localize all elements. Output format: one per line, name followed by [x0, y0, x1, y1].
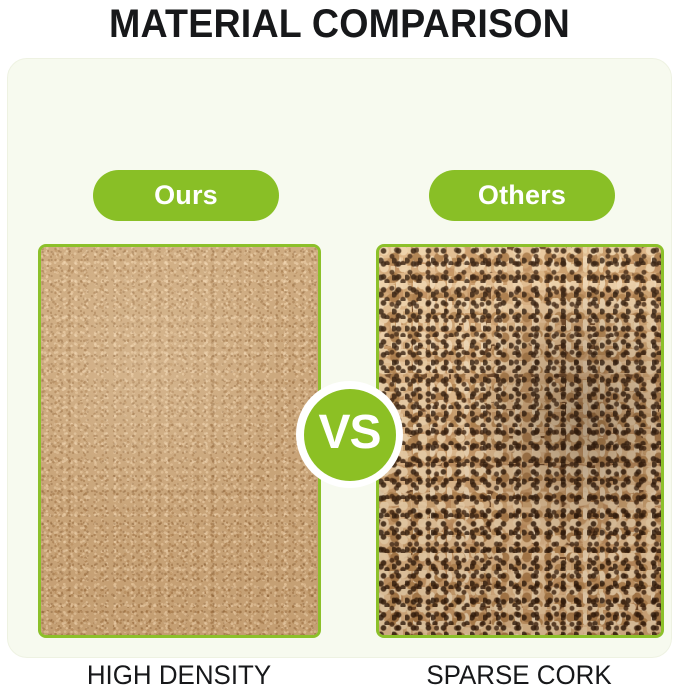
versus-badge: VS	[296, 381, 403, 488]
badge-ours: Ours	[93, 170, 279, 221]
caption-high-density: HIGH DENSITY	[32, 657, 326, 693]
material-comparison-infographic: MATERIAL COMPARISON Ours Others VS HIGH …	[0, 0, 679, 665]
page-title: MATERIAL COMPARISON	[20, 0, 658, 48]
badge-others: Others	[429, 170, 615, 221]
panel-high-density	[38, 244, 321, 638]
caption-sparse-cork: SPARSE CORK	[372, 657, 666, 693]
comparison-card: Ours Others VS HIGH DENSITY SPARSE CORK	[7, 58, 672, 658]
dense-cork-shading	[41, 247, 318, 635]
sparse-cork-shading	[379, 247, 661, 635]
panel-sparse-cork	[376, 244, 664, 638]
versus-label: VS	[304, 389, 396, 481]
